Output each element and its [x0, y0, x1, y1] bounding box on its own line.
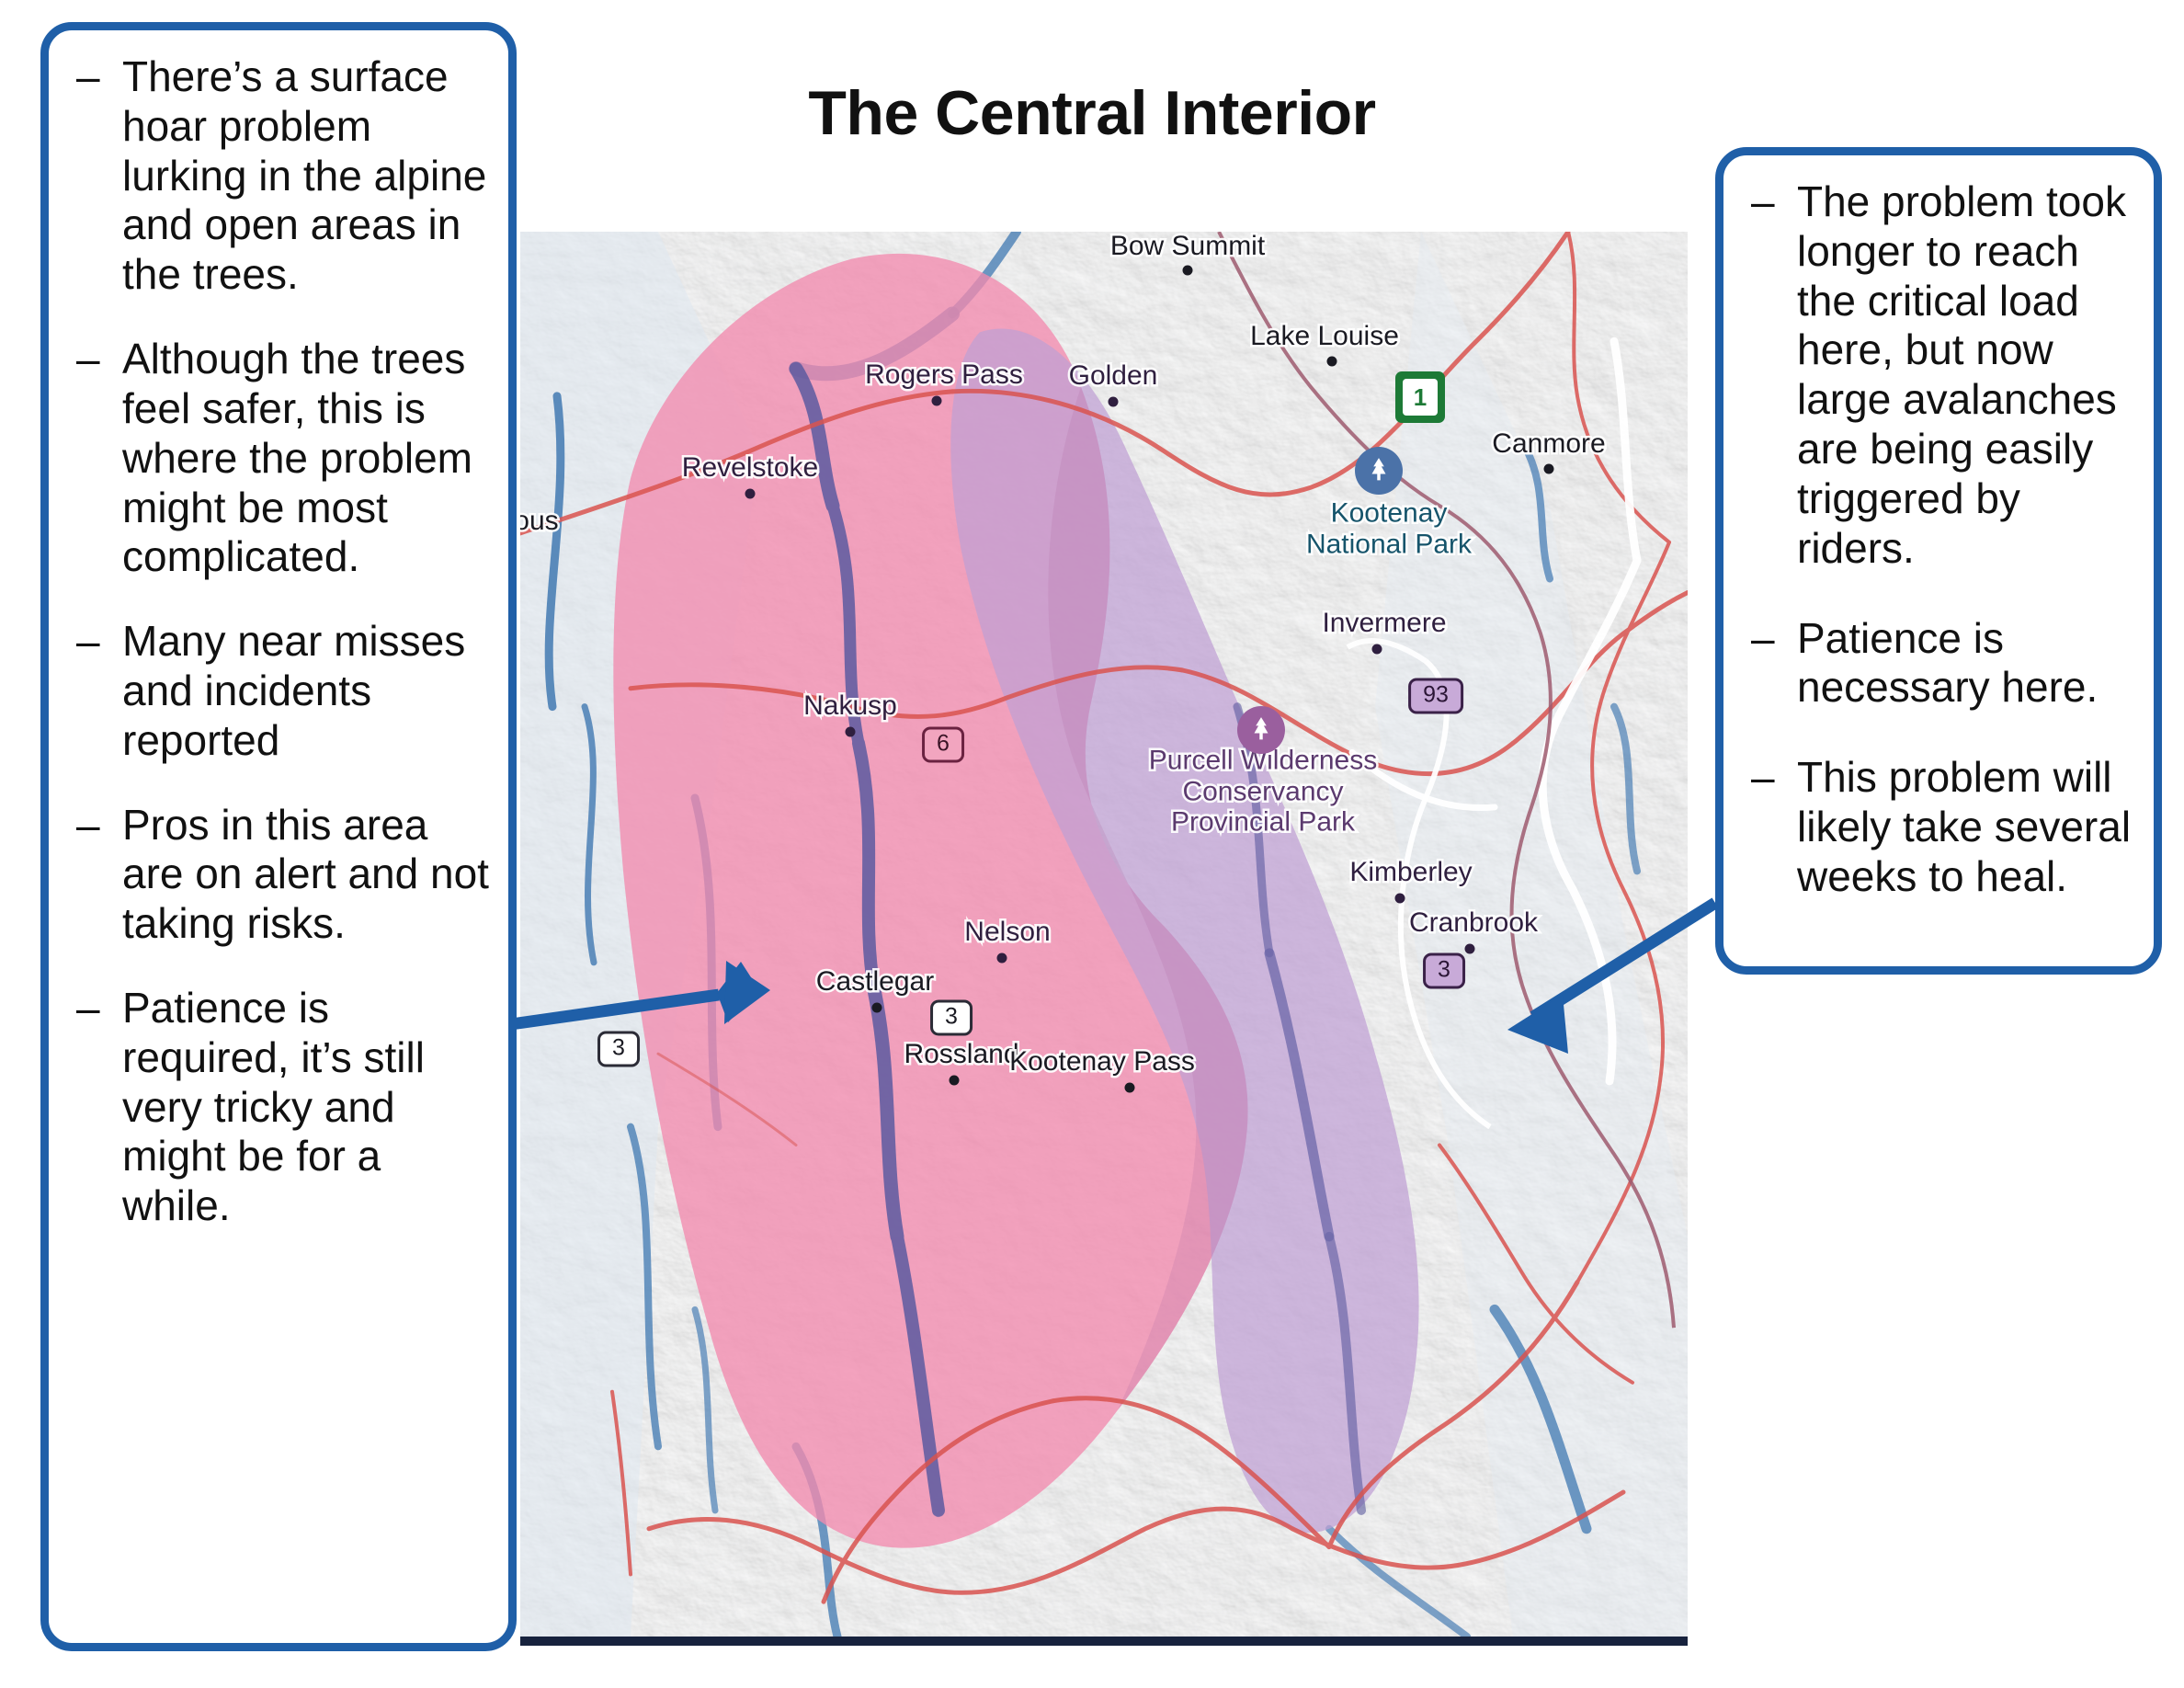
bullet-text: Patience is required, it’s still very tr… — [122, 984, 425, 1229]
map-city-dot-icon — [1109, 397, 1119, 407]
right-callout[interactable]: –The problem took longer to reach the cr… — [1715, 147, 2162, 975]
bullet-text: There’s a surface hoar problem lurking i… — [122, 52, 486, 298]
left-callout[interactable]: –There’s a surface hoar problem lurking … — [40, 22, 517, 1651]
highway-shield-icon: 3 — [1423, 953, 1465, 989]
map-city-dot-icon — [1125, 1083, 1135, 1093]
highway-shield-icon: 6 — [922, 727, 964, 763]
map-city-dot-icon — [1183, 266, 1193, 276]
left-callout-bullet-3: –Pros in this area are on alert and not … — [65, 801, 492, 949]
left-callout-bullet-list: –There’s a surface hoar problem lurking … — [65, 52, 492, 1231]
highway-shield-icon: 3 — [597, 1032, 640, 1067]
bullet-dash-icon: – — [76, 801, 100, 850]
bullet-dash-icon: – — [76, 335, 100, 384]
map-city-dot-icon — [745, 489, 756, 499]
bullet-text: The problem took longer to reach the cri… — [1797, 177, 2126, 572]
right-callout-bullet-0: –The problem took longer to reach the cr… — [1740, 177, 2135, 574]
map-city-dot-icon — [872, 1003, 882, 1013]
bullet-dash-icon: – — [76, 984, 100, 1033]
highway-shield-number: 1 — [1403, 379, 1438, 416]
map-city-dot-icon — [1327, 357, 1337, 367]
map-canvas — [520, 232, 1688, 1637]
bullet-text: Many near misses and incidents reported — [122, 617, 465, 764]
tree-icon — [1366, 457, 1392, 485]
left-callout-bullet-4: –Patience is required, it’s still very t… — [65, 984, 492, 1231]
left-callout-bullet-0: –There’s a surface hoar problem lurking … — [65, 52, 492, 300]
bullet-dash-icon: – — [1751, 614, 1775, 664]
bullet-dash-icon: – — [1751, 753, 1775, 803]
bullet-text: Patience is necessary here. — [1797, 614, 2098, 712]
bullet-dash-icon: – — [76, 617, 100, 667]
bullet-text: Pros in this area are on alert and not t… — [122, 801, 489, 948]
map-city-dot-icon — [932, 396, 942, 406]
map-city-dot-icon — [1465, 944, 1475, 954]
bullet-dash-icon: – — [76, 52, 100, 102]
bullet-text: This problem will likely take several we… — [1797, 753, 2131, 900]
map-city-dot-icon — [950, 1076, 960, 1086]
bullet-text: Although the trees feel safer, this is w… — [122, 335, 472, 580]
map-city-dot-icon — [1395, 894, 1405, 904]
maple-leaf-highway-shield-icon: 1 — [1395, 371, 1445, 423]
tree-icon — [1355, 447, 1403, 495]
map-city-dot-icon — [997, 953, 1007, 964]
highway-shield-icon: 93 — [1408, 679, 1463, 714]
right-callout-bullet-list: –The problem took longer to reach the cr… — [1740, 177, 2135, 902]
bullet-dash-icon: – — [1751, 177, 1775, 227]
right-callout-bullet-2: –This problem will likely take several w… — [1740, 753, 2135, 901]
right-callout-bullet-1: –Patience is necessary here. — [1740, 614, 2135, 713]
highway-shield-icon: 3 — [930, 1000, 973, 1036]
tree-icon — [1248, 716, 1274, 744]
left-callout-bullet-2: –Many near misses and incidents reported — [65, 617, 492, 765]
map-figure[interactable]: Bow SummitLake LouiseCanmoreGoldenRogers… — [520, 232, 1688, 1646]
map-city-dot-icon — [846, 727, 856, 737]
tree-icon — [1237, 706, 1285, 754]
map-city-dot-icon — [1372, 644, 1382, 655]
left-callout-bullet-1: –Although the trees feel safer, this is … — [65, 335, 492, 582]
map-city-dot-icon — [1544, 464, 1554, 474]
